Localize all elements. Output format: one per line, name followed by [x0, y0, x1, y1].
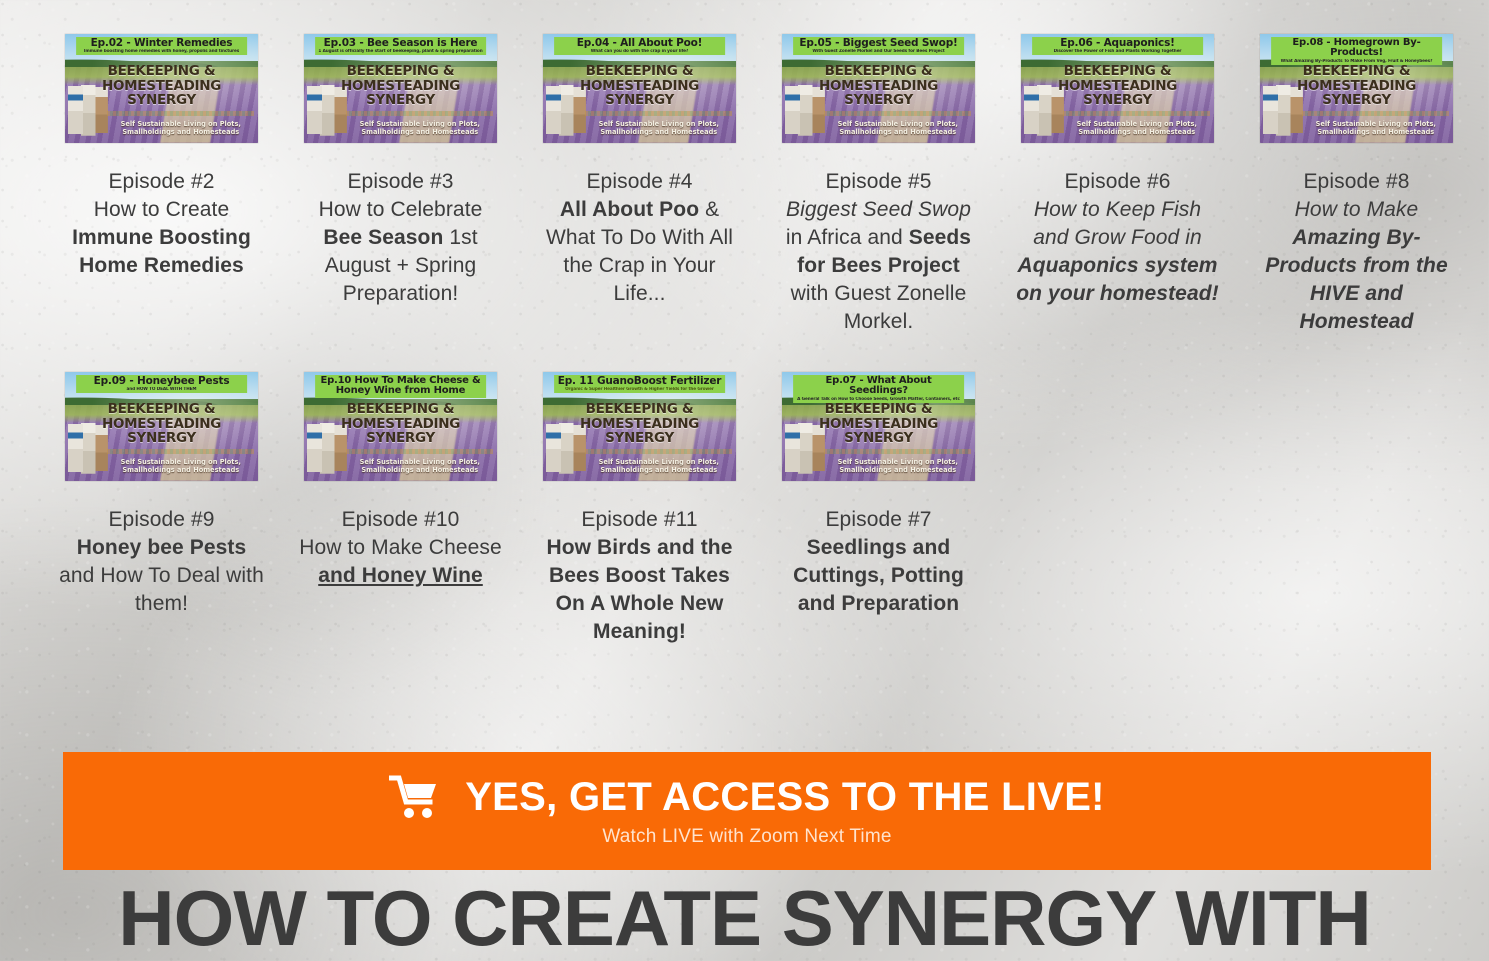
episode-title-part: How to Make Cheese [299, 536, 502, 559]
thumbnail-label-subtitle: With Guest Zonelle Morkel and Our Seeds … [795, 49, 963, 53]
episode-thumbnail[interactable]: Ep.07 - What About Seedlings?A General T… [782, 372, 975, 481]
brand-tagline-line: Smallholdings and Homesteads [1317, 128, 1434, 136]
episode-number: Episode #9 [108, 508, 214, 531]
thumbnail-label-subtitle: Immune boosting home remedies with honey… [78, 49, 246, 53]
episode-caption: Episode #4All About Poo & What To Do Wit… [537, 168, 742, 308]
thumbnail-label-title: Ep.10 How To Make Cheese & Honey Wine fr… [317, 376, 485, 396]
thumbnail-tagline: Self Sustainable Living on Plots,Smallho… [111, 458, 250, 475]
episode-listing-page: Ep.02 - Winter RemediesImmune boosting h… [0, 0, 1489, 961]
brand-tagline-line: Smallholdings and Homesteads [600, 128, 717, 136]
page-headline: HOW TO CREATE SYNERGY WITH [0, 876, 1489, 960]
thumbnail-tagline: Self Sustainable Living on Plots,Smallho… [589, 120, 728, 137]
thumbnail-tagline: Self Sustainable Living on Plots,Smallho… [1067, 120, 1206, 137]
thumbnail-brand-title: BEEKEEPING &HOMESTEADINGSYNERGY [65, 402, 258, 446]
brand-tagline-line: Smallholdings and Homesteads [361, 466, 478, 474]
thumbnail-brand-title: BEEKEEPING &HOMESTEADINGSYNERGY [1021, 64, 1214, 108]
episode-caption: Episode #7Seedlings and Cuttings, Pottin… [776, 506, 981, 618]
episode-card[interactable]: Ep.10 How To Make Cheese & Honey Wine fr… [281, 372, 520, 646]
brand-tagline-line: Smallholdings and Homesteads [122, 128, 239, 136]
episode-caption: Episode #11How Birds and the Bees Boost … [537, 506, 742, 646]
episode-caption: Episode #3How to Celebrate Bee Season 1s… [298, 168, 503, 308]
episode-thumbnail[interactable]: Ep.06 - Aquaponics!Discover the Power of… [1021, 34, 1214, 143]
brand-title-line: SYNERGY [844, 430, 913, 446]
thumbnail-label-title: Ep.09 - Honeybee Pests [78, 376, 246, 387]
episode-caption: Episode #9Honey bee Pests and How To Dea… [59, 506, 264, 618]
brand-tagline-line: Smallholdings and Homesteads [600, 466, 717, 474]
thumbnail-strip [585, 449, 732, 454]
episode-grid-row-2: Ep.09 - Honeybee Pestsand HOW TO DEAL WI… [0, 336, 1489, 646]
brand-title-line: SYNERGY [366, 430, 435, 446]
brand-title-line: SYNERGY [605, 430, 674, 446]
episode-caption: Episode #8How to Make Amazing By-Product… [1254, 168, 1459, 336]
thumbnail-strip [824, 111, 971, 116]
brand-tagline-line: Self Sustainable Living on Plots, [121, 120, 241, 128]
episode-caption: Episode #10How to Make Cheese and Honey … [298, 506, 503, 590]
episode-number: Episode #6 [1064, 170, 1170, 193]
episode-number: Episode #4 [586, 170, 692, 193]
thumbnail-tagline: Self Sustainable Living on Plots,Smallho… [111, 120, 250, 137]
brand-title-line: SYNERGY [605, 92, 674, 108]
episode-thumbnail-label: Ep.07 - What About Seedlings?A General T… [793, 375, 965, 403]
cta-sublabel: Watch LIVE with Zoom Next Time [602, 826, 891, 848]
episode-title-part: Biggest Seed Swop [786, 198, 971, 221]
brand-tagline-line: Self Sustainable Living on Plots, [121, 458, 241, 466]
episode-number: Episode #2 [108, 170, 214, 193]
thumbnail-label-title: Ep.04 - All About Poo! [556, 38, 724, 49]
episode-title-part: How to Make [1295, 198, 1419, 221]
episode-title-part: and How To Deal with them! [59, 564, 264, 615]
thumbnail-brand-title: BEEKEEPING &HOMESTEADINGSYNERGY [782, 64, 975, 108]
episode-card[interactable]: Ep.07 - What About Seedlings?A General T… [759, 372, 998, 646]
thumbnail-label-subtitle: Discover the Power of Fish and Plants Wo… [1034, 49, 1202, 53]
get-access-cta-button[interactable]: YES, GET ACCESS TO THE LIVE! Watch LIVE … [63, 752, 1431, 870]
thumbnail-label-title: Ep.03 - Bee Season is Here [317, 38, 485, 49]
episode-thumbnail-label: Ep.02 - Winter RemediesImmune boosting h… [76, 37, 248, 55]
episode-thumbnail-label: Ep. 11 GuanoBoost FertilizerOrganic & Su… [554, 375, 726, 393]
thumbnail-strip [824, 449, 971, 454]
brand-tagline-line: Self Sustainable Living on Plots, [1077, 120, 1197, 128]
thumbnail-label-subtitle: What can you do with the crap in your li… [556, 49, 724, 53]
thumbnail-brand-title: BEEKEEPING &HOMESTEADINGSYNERGY [782, 402, 975, 446]
thumbnail-tagline: Self Sustainable Living on Plots,Smallho… [589, 458, 728, 475]
brand-tagline-line: Self Sustainable Living on Plots, [1316, 120, 1436, 128]
brand-tagline-line: Smallholdings and Homesteads [839, 466, 956, 474]
thumbnail-tagline: Self Sustainable Living on Plots,Smallho… [350, 120, 489, 137]
thumbnail-label-title: Ep.06 - Aquaponics! [1034, 38, 1202, 49]
episode-title-part: How to Create [94, 198, 230, 221]
episode-number: Episode #8 [1303, 170, 1409, 193]
thumbnail-label-subtitle: and HOW TO DEAL WITH THEM [78, 387, 246, 391]
episode-number: Episode #10 [342, 508, 460, 531]
episode-title-part: Aquaponics system on your homestead! [1016, 254, 1219, 305]
episode-thumbnail[interactable]: Ep. 11 GuanoBoost FertilizerOrganic & Su… [543, 372, 736, 481]
thumbnail-label-title: Ep.05 - Biggest Seed Swop! [795, 38, 963, 49]
brand-tagline-line: Self Sustainable Living on Plots, [838, 458, 958, 466]
episode-title-part: Immune Boosting Home Remedies [72, 226, 251, 277]
episode-thumbnail-label: Ep.04 - All About Poo!What can you do wi… [554, 37, 726, 55]
episode-thumbnail[interactable]: Ep.08 - Homegrown By-Products!What Amazi… [1260, 34, 1453, 143]
episode-grid-row-1: Ep.02 - Winter RemediesImmune boosting h… [0, 0, 1489, 336]
thumbnail-brand-title: BEEKEEPING &HOMESTEADINGSYNERGY [304, 64, 497, 108]
cta-main-row: YES, GET ACCESS TO THE LIVE! [389, 775, 1105, 820]
episode-title-part: and Honey Wine [318, 564, 483, 587]
episode-card[interactable]: Ep.02 - Winter RemediesImmune boosting h… [42, 34, 281, 336]
thumbnail-tagline: Self Sustainable Living on Plots,Smallho… [1306, 120, 1445, 137]
brand-title-line: SYNERGY [1083, 92, 1152, 108]
brand-tagline-line: Smallholdings and Homesteads [839, 128, 956, 136]
brand-tagline-line: Self Sustainable Living on Plots, [599, 458, 719, 466]
thumbnail-strip [107, 449, 254, 454]
thumbnail-strip [585, 111, 732, 116]
brand-title-line: SYNERGY [1322, 92, 1391, 108]
episode-card[interactable]: Ep.03 - Bee Season is Here1 August is of… [281, 34, 520, 336]
episode-thumbnail[interactable]: Ep.09 - Honeybee Pestsand HOW TO DEAL WI… [65, 372, 258, 481]
thumbnail-tagline: Self Sustainable Living on Plots,Smallho… [828, 120, 967, 137]
episode-title-part: Bee Season [323, 226, 443, 249]
brand-tagline-line: Self Sustainable Living on Plots, [838, 120, 958, 128]
brand-tagline-line: Smallholdings and Homesteads [1078, 128, 1195, 136]
episode-title-part: with Guest Zonelle Morkel. [791, 282, 967, 333]
episode-thumbnail[interactable]: Ep.03 - Bee Season is Here1 August is of… [304, 34, 497, 143]
episode-title-part: in Africa and [786, 226, 909, 249]
episode-card[interactable]: Ep.08 - Homegrown By-Products!What Amazi… [1237, 34, 1476, 336]
episode-thumbnail[interactable]: Ep.10 How To Make Cheese & Honey Wine fr… [304, 372, 497, 481]
thumbnail-strip [1063, 111, 1210, 116]
thumbnail-brand-title: BEEKEEPING &HOMESTEADINGSYNERGY [65, 64, 258, 108]
brand-title-line: SYNERGY [366, 92, 435, 108]
brand-tagline-line: Self Sustainable Living on Plots, [599, 120, 719, 128]
episode-thumbnail-label: Ep.08 - Homegrown By-Products!What Amazi… [1271, 37, 1443, 65]
thumbnail-brand-title: BEEKEEPING &HOMESTEADINGSYNERGY [543, 64, 736, 108]
thumbnail-tagline: Self Sustainable Living on Plots,Smallho… [350, 458, 489, 475]
thumbnail-strip [346, 111, 493, 116]
episode-thumbnail-label: Ep.09 - Honeybee Pestsand HOW TO DEAL WI… [76, 375, 248, 393]
thumbnail-label-title: Ep.02 - Winter Remedies [78, 38, 246, 49]
thumbnail-brand-title: BEEKEEPING &HOMESTEADINGSYNERGY [1260, 64, 1453, 108]
episode-number: Episode #3 [347, 170, 453, 193]
episode-thumbnail-label: Ep.03 - Bee Season is Here1 August is of… [315, 37, 487, 55]
brand-title-line: SYNERGY [844, 92, 913, 108]
thumbnail-tagline: Self Sustainable Living on Plots,Smallho… [828, 458, 967, 475]
episode-card[interactable]: Ep. 11 GuanoBoost FertilizerOrganic & Su… [520, 372, 759, 646]
episode-caption: Episode #6How to Keep Fish and Grow Food… [1015, 168, 1220, 308]
cta-label: YES, GET ACCESS TO THE LIVE! [465, 775, 1105, 820]
thumbnail-strip [1302, 111, 1449, 116]
episode-number: Episode #5 [825, 170, 931, 193]
episode-title-part: Amazing By-Products from the HIVE and Ho… [1265, 226, 1448, 333]
episode-card[interactable]: Ep.09 - Honeybee Pestsand HOW TO DEAL WI… [42, 372, 281, 646]
episode-caption: Episode #2How to Create Immune Boosting … [59, 168, 264, 280]
thumbnail-label-title: Ep.08 - Homegrown By-Products! [1273, 38, 1441, 58]
episode-thumbnail-label: Ep.10 How To Make Cheese & Honey Wine fr… [315, 375, 487, 398]
shopping-cart-icon [389, 775, 441, 819]
episode-thumbnail-label: Ep.05 - Biggest Seed Swop!With Guest Zon… [793, 37, 965, 55]
episode-title-part: How to Keep Fish and Grow Food in [1033, 198, 1202, 249]
brand-title-line: SYNERGY [127, 92, 196, 108]
thumbnail-brand-title: BEEKEEPING &HOMESTEADINGSYNERGY [304, 402, 497, 446]
episode-title-part: How to Celebrate [319, 198, 483, 221]
episode-thumbnail-label: Ep.06 - Aquaponics!Discover the Power of… [1032, 37, 1204, 55]
brand-tagline-line: Self Sustainable Living on Plots, [360, 120, 480, 128]
episode-title-part: Seedlings and Cuttings, Potting and Prep… [793, 536, 964, 615]
brand-tagline-line: Self Sustainable Living on Plots, [360, 458, 480, 466]
episode-thumbnail[interactable]: Ep.05 - Biggest Seed Swop!With Guest Zon… [782, 34, 975, 143]
episode-caption: Episode #5Biggest Seed Swop in Africa an… [776, 168, 981, 336]
episode-number: Episode #7 [825, 508, 931, 531]
thumbnail-label-title: Ep.07 - What About Seedlings? [795, 376, 963, 396]
episode-title-part: All About Poo [560, 198, 699, 221]
episode-card[interactable]: Ep.06 - Aquaponics!Discover the Power of… [998, 34, 1237, 336]
thumbnail-label-subtitle: 1 August is officially the start of beek… [317, 49, 485, 53]
thumbnail-label-subtitle: Organic & Super Healthier Growth & Highe… [556, 387, 724, 391]
brand-title-line: SYNERGY [127, 430, 196, 446]
episode-number: Episode #11 [581, 508, 697, 531]
episode-title-part: How Birds and the Bees Boost Takes On A … [546, 536, 732, 643]
thumbnail-brand-title: BEEKEEPING &HOMESTEADINGSYNERGY [543, 402, 736, 446]
episode-thumbnail[interactable]: Ep.02 - Winter RemediesImmune boosting h… [65, 34, 258, 143]
brand-tagline-line: Smallholdings and Homesteads [361, 128, 478, 136]
episode-card[interactable]: Ep.05 - Biggest Seed Swop!With Guest Zon… [759, 34, 998, 336]
thumbnail-label-title: Ep. 11 GuanoBoost Fertilizer [556, 376, 724, 387]
brand-tagline-line: Smallholdings and Homesteads [122, 466, 239, 474]
thumbnail-strip [346, 449, 493, 454]
thumbnail-strip [107, 111, 254, 116]
episode-thumbnail[interactable]: Ep.04 - All About Poo!What can you do wi… [543, 34, 736, 143]
episode-card[interactable]: Ep.04 - All About Poo!What can you do wi… [520, 34, 759, 336]
episode-title-part: Honey bee Pests [77, 536, 247, 559]
